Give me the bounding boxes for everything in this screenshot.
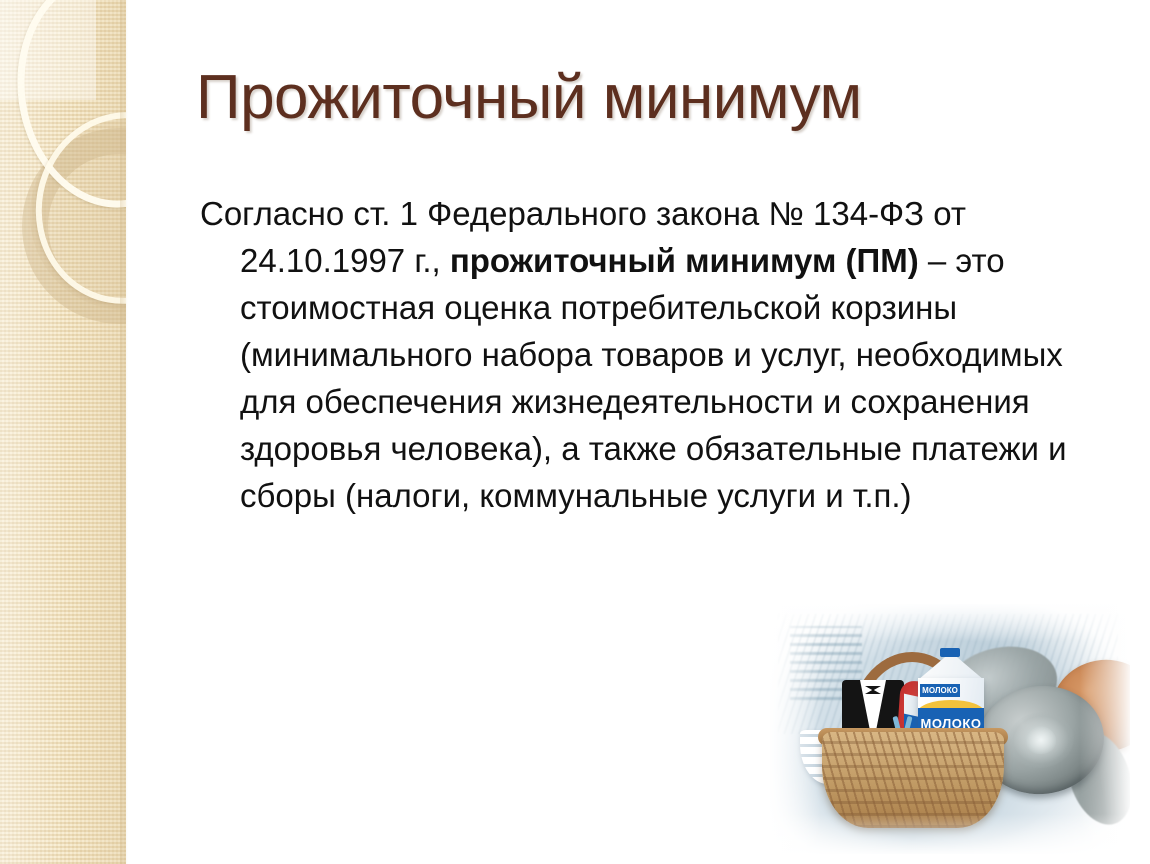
milk-carton-cap: [940, 648, 960, 657]
slide-body-text: Согласно ст. 1 Федерального закона № 134…: [200, 190, 1070, 519]
page-title: Прожиточный минимум: [196, 62, 1096, 133]
suit-buttons: [871, 700, 875, 726]
decorative-sidebar: [0, 0, 126, 864]
body-text-bold-term: прожиточный минимум (ПМ): [450, 242, 919, 279]
basket-body: [822, 732, 1004, 828]
sidebar-edge-shadow: [120, 0, 128, 864]
body-text-part3: – это стоимостная оценка потребительской…: [240, 242, 1067, 514]
coin-emblem-icon: [1005, 709, 1076, 772]
slide: Прожиточный минимум Согласно ст. 1 Федер…: [0, 0, 1150, 864]
milk-carton-small-label: МОЛОКО: [920, 684, 960, 697]
consumer-basket-image: МОЛОКО МОЛОКО: [770, 604, 1130, 854]
